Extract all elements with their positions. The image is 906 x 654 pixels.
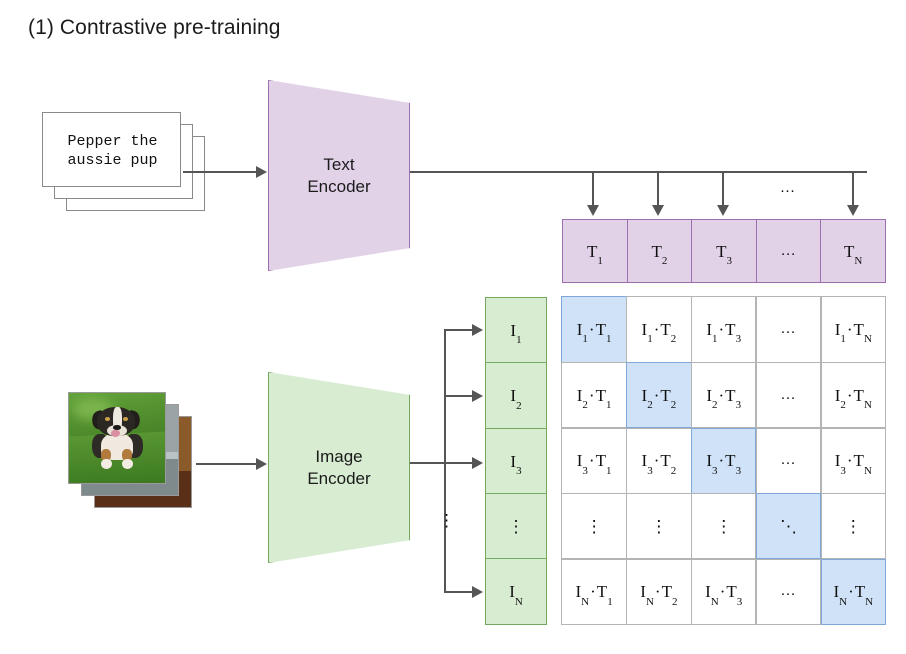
- image-embedding-column: I1 I2 I3 ⋮ IN: [485, 297, 547, 625]
- text-encoder-label: Text Encoder: [307, 154, 370, 198]
- text-embedding-label: T1: [587, 243, 603, 260]
- similarity-cell-3-1[interactable]: I3·T1: [561, 428, 626, 494]
- image-photo-stack: [68, 392, 196, 510]
- text-drop-line-3: [722, 171, 724, 206]
- similarity-cell-3-3[interactable]: I3·T3: [691, 428, 756, 494]
- similarity-cell-2-2[interactable]: I2·T2: [626, 362, 691, 428]
- similarity-cell-label: I2·T2: [642, 387, 677, 404]
- image-embedding-cell-ellipsis: ⋮: [485, 493, 547, 560]
- image-trunk-line: [410, 462, 446, 464]
- image-branch-line-n: [444, 591, 474, 593]
- page-title: (1) Contrastive pre-training: [28, 16, 281, 40]
- similarity-cell-ellipsis: ⋮: [650, 518, 667, 535]
- similarity-cell-label: IN·T2: [640, 583, 677, 600]
- similarity-cell-ellipsis: …: [780, 452, 796, 469]
- image-embedding-cell[interactable]: IN: [485, 558, 547, 625]
- image-fanout-ellipsis: ⋮: [438, 512, 455, 529]
- similarity-cell-label: I3·T3: [706, 452, 741, 469]
- text-fanout-ellipsis: …: [780, 180, 796, 197]
- text-embedding-ellipsis: …: [781, 243, 797, 260]
- similarity-cell-5-3[interactable]: IN·T3: [691, 559, 756, 625]
- similarity-cell-label: IN·T1: [576, 583, 613, 600]
- similarity-cell-2-4: …: [756, 362, 821, 428]
- similarity-cell-label: I1·TN: [835, 321, 872, 338]
- similarity-cell-ellipsis: ⋮: [715, 518, 732, 535]
- similarity-matrix: I1·T1I1·T2I1·T3…I1·TNI2·T1I2·T2I2·T3…I2·…: [562, 297, 886, 625]
- similarity-cell-ellipsis: …: [780, 387, 796, 404]
- similarity-cell-3-5[interactable]: I3·TN: [821, 428, 886, 494]
- image-embedding-label: I1: [510, 322, 521, 339]
- image-input-arrowhead-icon: [256, 458, 267, 470]
- text-embedding-cell[interactable]: T1: [562, 219, 628, 283]
- similarity-cell-5-1[interactable]: IN·T1: [561, 559, 626, 625]
- text-input-arrowhead-icon: [256, 166, 267, 178]
- text-embedding-row: T1 T2 T3 … TN: [562, 219, 886, 283]
- text-drop-line-2: [657, 171, 659, 206]
- text-embedding-cell[interactable]: T2: [627, 219, 693, 283]
- image-embedding-label: I3: [510, 453, 521, 470]
- text-drop-line-n: [852, 171, 854, 206]
- similarity-cell-1-2[interactable]: I1·T2: [626, 296, 691, 362]
- text-caption-stack: Pepper the aussie pup: [42, 112, 217, 227]
- similarity-cell-ellipsis: ⋮: [586, 518, 603, 535]
- image-input-connector-line: [196, 463, 257, 465]
- similarity-cell-4-2: ⋮: [626, 493, 691, 559]
- similarity-cell-4-4: ⋱: [756, 493, 821, 559]
- similarity-cell-1-4: …: [756, 296, 821, 362]
- similarity-cell-label: I2·T3: [706, 387, 741, 404]
- text-drop-arrowhead-2-icon: [652, 205, 664, 216]
- similarity-cell-1-3[interactable]: I1·T3: [691, 296, 756, 362]
- text-drop-arrowhead-n-icon: [847, 205, 859, 216]
- similarity-cell-5-5[interactable]: IN·TN: [821, 559, 886, 625]
- similarity-cell-ellipsis: …: [780, 583, 796, 600]
- similarity-cell-label: I2·T1: [577, 387, 612, 404]
- text-encoder-block: Text Encoder: [268, 80, 410, 271]
- similarity-cell-label: I1·T3: [706, 321, 741, 338]
- text-embedding-cell[interactable]: TN: [820, 219, 886, 283]
- similarity-cell-ellipsis: ⋮: [845, 518, 862, 535]
- similarity-cell-1-5[interactable]: I1·TN: [821, 296, 886, 362]
- image-trunk-vertical: [444, 330, 446, 592]
- similarity-cell-2-3[interactable]: I2·T3: [691, 362, 756, 428]
- puppy-eye-right: [123, 417, 128, 421]
- image-embedding-ellipsis: ⋮: [508, 518, 525, 535]
- similarity-cell-label: IN·T3: [705, 583, 742, 600]
- image-branch-line-1: [444, 329, 474, 331]
- text-caption-label: Pepper the aussie pup: [43, 113, 182, 188]
- similarity-cell-label: I2·TN: [835, 387, 872, 404]
- similarity-cell-label: I3·TN: [835, 452, 872, 469]
- image-embedding-label: I2: [510, 387, 521, 404]
- text-embedding-cell[interactable]: T3: [691, 219, 757, 283]
- text-drop-arrowhead-3-icon: [717, 205, 729, 216]
- text-embedding-label: TN: [844, 243, 862, 260]
- text-embedding-label: T3: [716, 243, 732, 260]
- similarity-cell-5-2[interactable]: IN·T2: [626, 559, 691, 625]
- similarity-cell-label: IN·TN: [833, 583, 873, 600]
- image-branch-line-2: [444, 395, 474, 397]
- similarity-cell-2-1[interactable]: I2·T1: [561, 362, 626, 428]
- similarity-cell-5-4: …: [756, 559, 821, 625]
- similarity-cell-4-3: ⋮: [691, 493, 756, 559]
- image-branch-arrowhead-3-icon: [472, 457, 483, 469]
- similarity-cell-label: I3·T1: [577, 452, 612, 469]
- text-drop-line-1: [592, 171, 594, 206]
- text-input-connector-line: [183, 171, 257, 173]
- image-embedding-cell[interactable]: I3: [485, 428, 547, 495]
- similarity-cell-ellipsis: …: [780, 321, 796, 338]
- text-trunk-line: [410, 171, 867, 173]
- image-branch-arrowhead-1-icon: [472, 324, 483, 336]
- similarity-cell-label: I3·T2: [642, 452, 677, 469]
- image-embedding-cell[interactable]: I2: [485, 362, 547, 429]
- similarity-cell-3-2[interactable]: I3·T2: [626, 428, 691, 494]
- text-embedding-label: T2: [652, 243, 668, 260]
- image-branch-arrowhead-2-icon: [472, 390, 483, 402]
- similarity-cell-4-5: ⋮: [821, 493, 886, 559]
- similarity-cell-1-1[interactable]: I1·T1: [561, 296, 626, 362]
- image-branch-line-3: [444, 462, 474, 464]
- similarity-cell-ellipsis: ⋱: [780, 518, 797, 535]
- similarity-cell-2-5[interactable]: I2·TN: [821, 362, 886, 428]
- image-encoder-label: Image Encoder: [307, 446, 370, 490]
- image-embedding-label: IN: [509, 583, 523, 600]
- image-encoder-block: Image Encoder: [268, 372, 410, 563]
- image-embedding-cell[interactable]: I1: [485, 297, 547, 364]
- image-branch-arrowhead-n-icon: [472, 586, 483, 598]
- similarity-cell-label: I1·T1: [577, 321, 612, 338]
- similarity-cell-3-4: …: [756, 428, 821, 494]
- text-drop-arrowhead-1-icon: [587, 205, 599, 216]
- text-embedding-cell-ellipsis: …: [756, 219, 822, 283]
- photo-front-puppy: [68, 392, 166, 484]
- similarity-cell-4-1: ⋮: [561, 493, 626, 559]
- text-card-front: Pepper the aussie pup: [42, 112, 181, 187]
- similarity-cell-label: I1·T2: [642, 321, 677, 338]
